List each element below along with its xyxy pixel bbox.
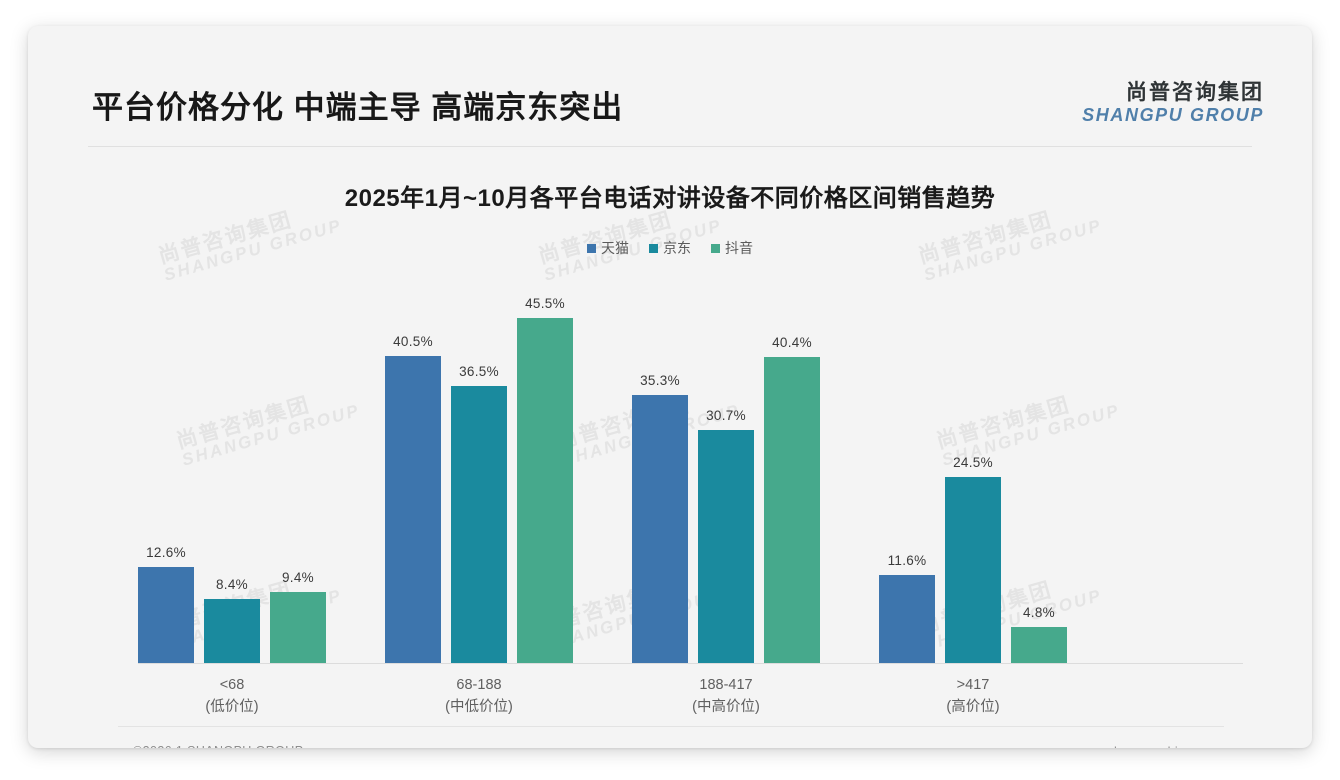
legend-label: 天猫 xyxy=(601,238,629,258)
bar-rect[interactable] xyxy=(1011,627,1067,663)
bar-rect[interactable] xyxy=(517,318,573,663)
bar-rect[interactable] xyxy=(270,592,326,663)
bar-rect[interactable] xyxy=(632,395,688,663)
legend-swatch-icon xyxy=(649,244,658,253)
legend-item-京东[interactable]: 京东 xyxy=(649,238,691,258)
x-axis-label-range: 68-188 xyxy=(385,674,573,696)
bar-京东-188-417[interactable]: 30.7% xyxy=(698,273,754,663)
bar-value-label: 40.5% xyxy=(393,334,433,349)
legend-item-抖音[interactable]: 抖音 xyxy=(711,238,753,258)
bar-group-68-188: 40.5%36.5%45.5% xyxy=(385,273,573,663)
x-axis-label-188-417: 188-417(中高价位) xyxy=(632,674,820,719)
bar-value-label: 4.8% xyxy=(1023,605,1055,620)
bar-rect[interactable] xyxy=(138,567,194,663)
bar-天猫->417[interactable]: 11.6% xyxy=(879,273,935,663)
bar-京东-68-188[interactable]: 36.5% xyxy=(451,273,507,663)
bar-value-label: 30.7% xyxy=(706,408,746,423)
bar-value-label: 40.4% xyxy=(772,335,812,350)
bar-group->417: 11.6%24.5%4.8% xyxy=(879,273,1067,663)
x-axis-label-<68: <68(低价位) xyxy=(138,674,326,719)
legend-swatch-icon xyxy=(711,244,720,253)
footer-divider xyxy=(118,726,1224,727)
bar-value-label: 12.6% xyxy=(146,545,186,560)
bar-天猫-68-188[interactable]: 40.5% xyxy=(385,273,441,663)
bar-value-label: 36.5% xyxy=(459,364,499,379)
bar-抖音->417[interactable]: 4.8% xyxy=(1011,273,1067,663)
brand-logo-english: SHANGPU GROUP xyxy=(1082,105,1264,125)
bar-抖音-68-188[interactable]: 45.5% xyxy=(517,273,573,663)
legend-swatch-icon xyxy=(587,244,596,253)
legend-label: 京东 xyxy=(663,238,691,258)
bar-天猫-<68[interactable]: 12.6% xyxy=(138,273,194,663)
x-axis-label-tier: (低价位) xyxy=(138,696,326,718)
bar-group-<68: 12.6%8.4%9.4% xyxy=(138,273,326,663)
slide-canvas: 尚普咨询集团SHANGPU GROUP尚普咨询集团SHANGPU GROUP尚普… xyxy=(28,26,1312,748)
chart-legend: 天猫京东抖音 xyxy=(28,238,1312,258)
header-divider xyxy=(88,146,1252,147)
bar-rect[interactable] xyxy=(451,386,507,663)
x-axis-label-68-188: 68-188(中低价位) xyxy=(385,674,573,719)
bar-rect[interactable] xyxy=(764,357,820,663)
chart-x-axis-labels: <68(低价位)68-188(中低价位)188-417(中高价位)>417(高价… xyxy=(103,674,1243,724)
x-axis-label-range: <68 xyxy=(138,674,326,696)
bar-京东->417[interactable]: 24.5% xyxy=(945,273,1001,663)
bar-value-label: 9.4% xyxy=(282,570,314,585)
bar-group-188-417: 35.3%30.7%40.4% xyxy=(632,273,820,663)
slide-header: 平台价格分化 中端主导 高端京东突出 尚普咨询集团 SHANGPU GROUP xyxy=(28,26,1312,122)
bar-value-label: 35.3% xyxy=(640,373,680,388)
footer-website[interactable]: www.shangpu-china.com xyxy=(1077,745,1220,748)
x-axis-label->417: >417(高价位) xyxy=(879,674,1067,719)
brand-logo: 尚普咨询集团 SHANGPU GROUP xyxy=(1082,81,1264,125)
chart-title: 2025年1月~10月各平台电话对讲设备不同价格区间销售趋势 xyxy=(28,178,1312,213)
bar-value-label: 24.5% xyxy=(953,455,993,470)
legend-label: 抖音 xyxy=(725,238,753,258)
bar-rect[interactable] xyxy=(385,356,441,663)
bar-抖音-188-417[interactable]: 40.4% xyxy=(764,273,820,663)
x-axis-label-tier: (高价位) xyxy=(879,696,1067,718)
bar-value-label: 8.4% xyxy=(216,577,248,592)
bar-value-label: 11.6% xyxy=(888,553,927,568)
bar-天猫-188-417[interactable]: 35.3% xyxy=(632,273,688,663)
bar-京东-<68[interactable]: 8.4% xyxy=(204,273,260,663)
bar-rect[interactable] xyxy=(698,430,754,663)
bar-rect[interactable] xyxy=(879,575,935,663)
bar-value-label: 45.5% xyxy=(525,296,565,311)
bar-rect[interactable] xyxy=(945,477,1001,663)
chart-baseline-axis xyxy=(138,663,1243,664)
page-title: 平台价格分化 中端主导 高端京东突出 xyxy=(92,82,623,127)
chart-plot-area: 12.6%8.4%9.4%40.5%36.5%45.5%35.3%30.7%40… xyxy=(103,274,1243,664)
x-axis-label-range: 188-417 xyxy=(632,674,820,696)
brand-logo-chinese: 尚普咨询集团 xyxy=(1082,81,1264,105)
bar-抖音-<68[interactable]: 9.4% xyxy=(270,273,326,663)
x-axis-label-range: >417 xyxy=(879,674,1067,696)
legend-item-天猫[interactable]: 天猫 xyxy=(587,238,629,258)
x-axis-label-tier: (中低价位) xyxy=(385,696,573,718)
footer-copyright: ©2026.1 SHANGPU GROUP xyxy=(133,744,303,748)
bar-rect[interactable] xyxy=(204,599,260,663)
x-axis-label-tier: (中高价位) xyxy=(632,696,820,718)
